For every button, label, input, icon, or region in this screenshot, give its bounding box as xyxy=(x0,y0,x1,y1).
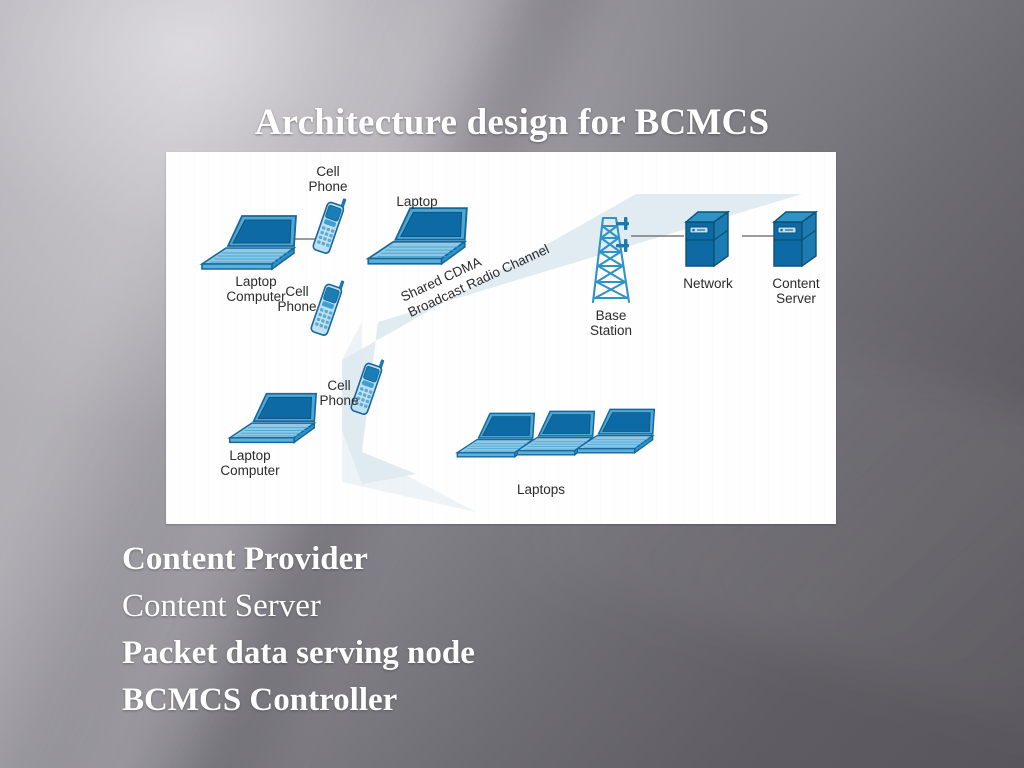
label-cell-phone-lower: Cell Phone xyxy=(306,378,372,408)
page-title: Architecture design for BCMCS xyxy=(0,101,1024,144)
laptop-group-icon xyxy=(457,409,654,456)
label-cell-phone-top: Cell Phone xyxy=(290,164,366,194)
bullet-item-content-server: Content Server xyxy=(122,583,882,630)
laptop-icon xyxy=(230,394,316,443)
cell-phone-icon xyxy=(312,194,347,254)
laptop-icon xyxy=(202,216,296,269)
label-laptop-top: Laptop xyxy=(378,194,456,209)
label-network: Network xyxy=(660,276,756,291)
server-icon xyxy=(774,212,816,266)
label-laptop-computer-bottom: Laptop Computer xyxy=(196,448,304,478)
server-icon xyxy=(686,212,728,266)
label-content-server: Content Server xyxy=(748,276,836,306)
laptop-icon xyxy=(368,208,467,264)
bullet-item-content-provider: Content Provider xyxy=(122,536,882,583)
network-architecture-diagram: Laptop Computer Cell Phone Cell Phone La… xyxy=(166,152,836,524)
bullet-item-bcmcs-controller: BCMCS Controller xyxy=(122,677,882,724)
label-base-station: Base Station xyxy=(570,308,652,338)
bullet-list: Content Provider Content Server Packet d… xyxy=(122,536,882,724)
bullet-item-packet-data-serving-node: Packet data serving node xyxy=(122,630,882,677)
slide: Architecture design for BCMCS xyxy=(0,0,1024,768)
label-laptops-group: Laptops xyxy=(496,482,586,497)
label-cell-phone-middle: Cell Phone xyxy=(264,284,330,314)
